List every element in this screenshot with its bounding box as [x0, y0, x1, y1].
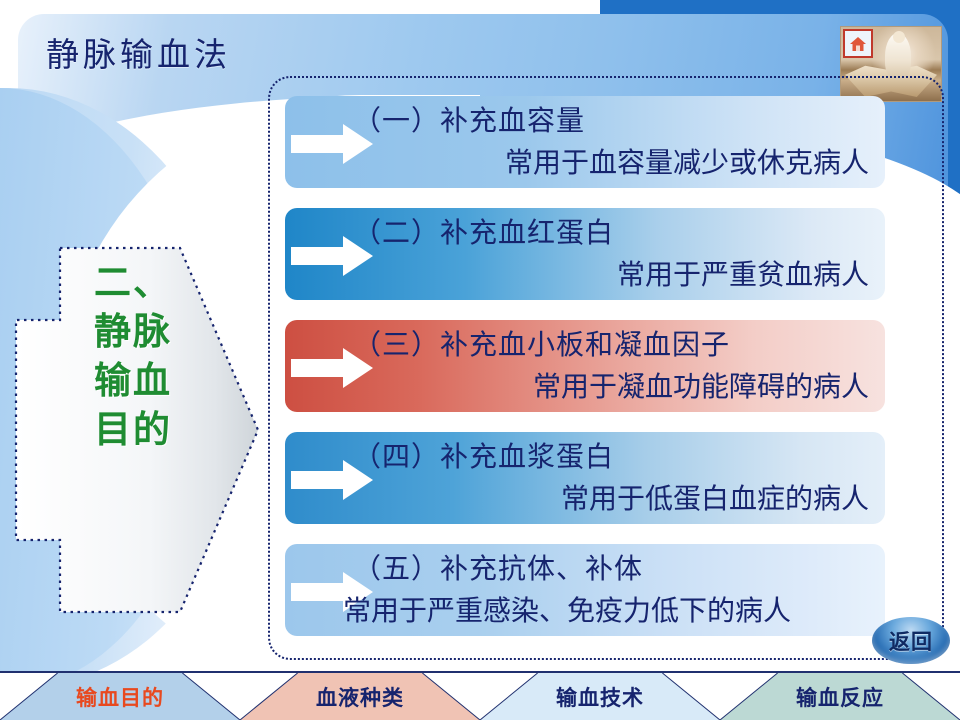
section-heading-line: 输血 [58, 356, 208, 405]
list-item-title: （四）补充血浆蛋白 [343, 436, 877, 478]
list-item-subtitle: 常用于低蛋白血症的病人 [343, 478, 877, 520]
list-item-subtitle: 常用于血容量减少或休克病人 [343, 142, 877, 184]
bottom-tab-bar: 输血目的 血液种类 输血技术 输血反应 [0, 671, 960, 720]
list-item[interactable]: （三）补充血小板和凝血因子 常用于凝血功能障碍的病人 [285, 320, 885, 412]
slide-canvas: 静脉输血法 二、 静脉 输血 目 [0, 0, 960, 720]
tab-label: 血液种类 [316, 682, 404, 712]
list-item[interactable]: （一）补充血容量 常用于血容量减少或休克病人 [285, 96, 885, 188]
list-item-title: （一）补充血容量 [343, 100, 877, 142]
list-item-title: （二）补充血红蛋白 [343, 212, 877, 254]
list-item[interactable]: （二）补充血红蛋白 常用于严重贫血病人 [285, 208, 885, 300]
list-item[interactable]: （四）补充血浆蛋白 常用于低蛋白血症的病人 [285, 432, 885, 524]
page-title: 静脉输血法 [46, 28, 231, 76]
return-button[interactable]: 返回 [872, 617, 950, 664]
return-button-label: 返回 [889, 626, 933, 656]
list-item[interactable]: （五）补充抗体、补体 常用于严重感染、免疫力低下的病人 [285, 544, 885, 636]
list-item-text: （四）补充血浆蛋白 常用于低蛋白血症的病人 [343, 436, 877, 520]
list-item-subtitle: 常用于凝血功能障碍的病人 [343, 366, 877, 408]
list-item-text: （五）补充抗体、补体 常用于严重感染、免疫力低下的病人 [343, 548, 877, 632]
tab-label: 输血技术 [556, 682, 644, 712]
tab-transfusion-reaction[interactable]: 输血反应 [720, 673, 960, 720]
list-item-subtitle: 常用于严重贫血病人 [343, 254, 877, 296]
section-heading-line: 二、 [58, 258, 208, 307]
list-item-title: （五）补充抗体、补体 [343, 548, 877, 590]
section-heading: 二、 静脉 输血 目的 [58, 258, 208, 508]
tab-transfusion-purpose[interactable]: 输血目的 [0, 673, 240, 720]
section-heading-line: 静脉 [58, 307, 208, 356]
nurse-head-shape [893, 31, 905, 43]
list-item-text: （二）补充血红蛋白 常用于严重贫血病人 [343, 212, 877, 296]
tab-label: 输血反应 [796, 682, 884, 712]
tab-label: 输血目的 [76, 682, 164, 712]
home-icon[interactable] [843, 29, 873, 58]
list-item-title: （三）补充血小板和凝血因子 [343, 324, 877, 366]
list-item-subtitle: 常用于严重感染、免疫力低下的病人 [343, 590, 877, 632]
tab-transfusion-technique[interactable]: 输血技术 [480, 673, 720, 720]
list-item-text: （一）补充血容量 常用于血容量减少或休克病人 [343, 100, 877, 184]
tab-blood-types[interactable]: 血液种类 [240, 673, 480, 720]
section-heading-line: 目的 [58, 405, 208, 454]
list-item-text: （三）补充血小板和凝血因子 常用于凝血功能障碍的病人 [343, 324, 877, 408]
